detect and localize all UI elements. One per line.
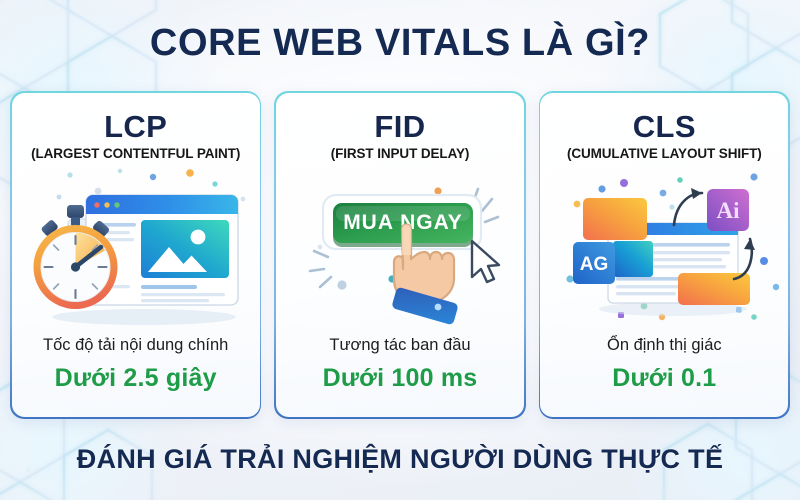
fid-subtitle: (FIRST INPUT DELAY): [276, 146, 524, 161]
infographic-canvas: CORE WEB VITALS LÀ GÌ? LCP (LARGEST CONT…: [0, 0, 800, 500]
fid-title: FID: [276, 109, 524, 145]
metric-cards-row: LCP (LARGEST CONTENTFUL PAINT): [10, 91, 790, 419]
lcp-title: LCP: [12, 109, 260, 145]
fid-description: Tương tác ban đầu: [276, 336, 524, 355]
page-title: CORE WEB VITALS LÀ GÌ?: [0, 22, 800, 65]
lcp-value: Dưới 2.5 giây: [12, 364, 260, 393]
cls-title: CLS: [540, 109, 788, 145]
cls-tile-label-ag: AG: [580, 254, 609, 275]
lcp-illustration: [12, 167, 260, 327]
fid-value: Dưới 100 ms: [276, 364, 524, 393]
cls-description: Ổn định thị giác: [540, 336, 788, 355]
fid-illustration: MUA NGAY: [276, 167, 524, 327]
cls-tile-label-ai: Ai: [717, 198, 741, 223]
metric-card-cls[interactable]: CLS (CUMULATIVE LAYOUT SHIFT): [539, 91, 790, 419]
metric-card-lcp[interactable]: LCP (LARGEST CONTENTFUL PAINT): [10, 91, 261, 419]
page-footer-title: ĐÁNH GIÁ TRẢI NGHIỆM NGƯỜI DÙNG THỰC TẾ: [0, 444, 800, 475]
metric-card-fid[interactable]: FID (FIRST INPUT DELAY): [274, 91, 525, 419]
lcp-subtitle: (LARGEST CONTENTFUL PAINT): [12, 146, 260, 161]
lcp-description: Tốc độ tải nội dung chính: [12, 336, 260, 355]
cls-value: Dưới 0.1: [540, 364, 788, 393]
cls-illustration: AG Ai: [540, 167, 788, 327]
cls-subtitle: (CUMULATIVE LAYOUT SHIFT): [540, 146, 788, 161]
